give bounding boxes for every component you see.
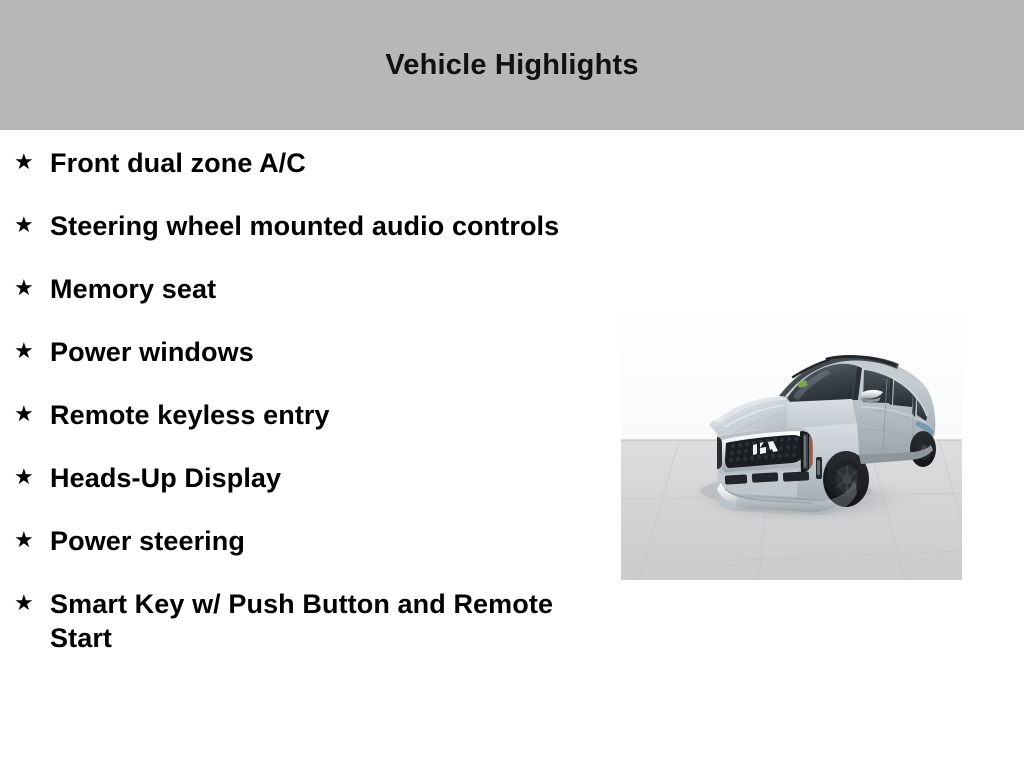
list-item: ★ Power windows [12,335,572,369]
highlight-label: Remote keyless entry [50,398,560,432]
vehicle-photo-image [621,303,962,580]
star-bullet-icon: ★ [12,587,50,621]
list-item: ★ Memory seat [12,272,572,306]
highlight-label: Memory seat [50,272,560,306]
highlight-label: Front dual zone A/C [50,146,560,180]
star-bullet-icon: ★ [12,461,50,495]
star-bullet-icon: ★ [12,146,50,180]
highlight-label: Smart Key w/ Push Button and Remote Star… [50,587,560,655]
highlight-label: Power windows [50,335,560,369]
highlight-label: Power steering [50,524,560,558]
header-bar: Vehicle Highlights [0,0,1024,130]
list-item: ★ Heads-Up Display [12,461,572,495]
highlight-label: Steering wheel mounted audio controls [50,209,560,243]
page-title: Vehicle Highlights [0,48,1024,82]
list-item: ★ Smart Key w/ Push Button and Remote St… [12,587,572,655]
list-item: ★ Power steering [12,524,572,558]
star-bullet-icon: ★ [12,398,50,432]
list-item: ★ Steering wheel mounted audio controls [12,209,572,243]
vehicle-photo [621,303,962,580]
vehicle-highlights-slide: Vehicle Highlights ★ Front dual zone A/C… [0,0,1024,768]
list-item: ★ Remote keyless entry [12,398,572,432]
vehicle-highlights-list: ★ Front dual zone A/C ★ Steering wheel m… [12,146,572,655]
star-bullet-icon: ★ [12,209,50,243]
star-bullet-icon: ★ [12,272,50,306]
list-item: ★ Front dual zone A/C [12,146,572,180]
star-bullet-icon: ★ [12,524,50,558]
star-bullet-icon: ★ [12,335,50,369]
highlight-label: Heads-Up Display [50,461,560,495]
